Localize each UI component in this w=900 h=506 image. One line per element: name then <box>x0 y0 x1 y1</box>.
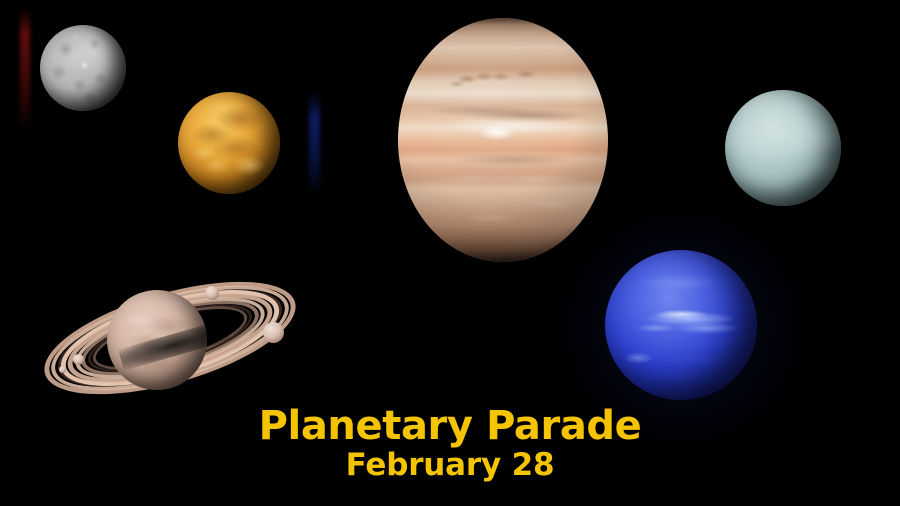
planet-venus <box>178 92 280 194</box>
jupiter-limb-shading <box>398 18 608 262</box>
saturn-globe <box>107 290 207 390</box>
saturn-moon-left <box>73 354 84 365</box>
saturn-moon-lower-right <box>263 322 284 343</box>
saturn-moon-upper-right <box>205 286 219 300</box>
red-light-streak <box>20 8 30 130</box>
planet-jupiter <box>398 18 608 262</box>
saturn-surface-mottling <box>107 290 207 390</box>
blue-light-streak <box>309 92 320 196</box>
uranus-atmospheric-haze <box>725 90 841 206</box>
page-subtitle: February 28 <box>0 448 900 482</box>
title-block: Planetary Parade February 28 <box>0 404 900 482</box>
planet-mercury <box>40 25 126 111</box>
planet-uranus <box>725 90 841 206</box>
planet-neptune <box>605 250 757 400</box>
planetary-parade-image: Planetary Parade February 28 <box>0 0 900 506</box>
saturn-moon-far-left <box>59 366 66 373</box>
planet-saturn-group <box>45 272 295 404</box>
page-title: Planetary Parade <box>0 404 900 448</box>
venus-cloud-swirls <box>178 92 280 194</box>
neptune-cloud-streaks <box>605 250 757 400</box>
mercury-craters <box>40 25 126 111</box>
